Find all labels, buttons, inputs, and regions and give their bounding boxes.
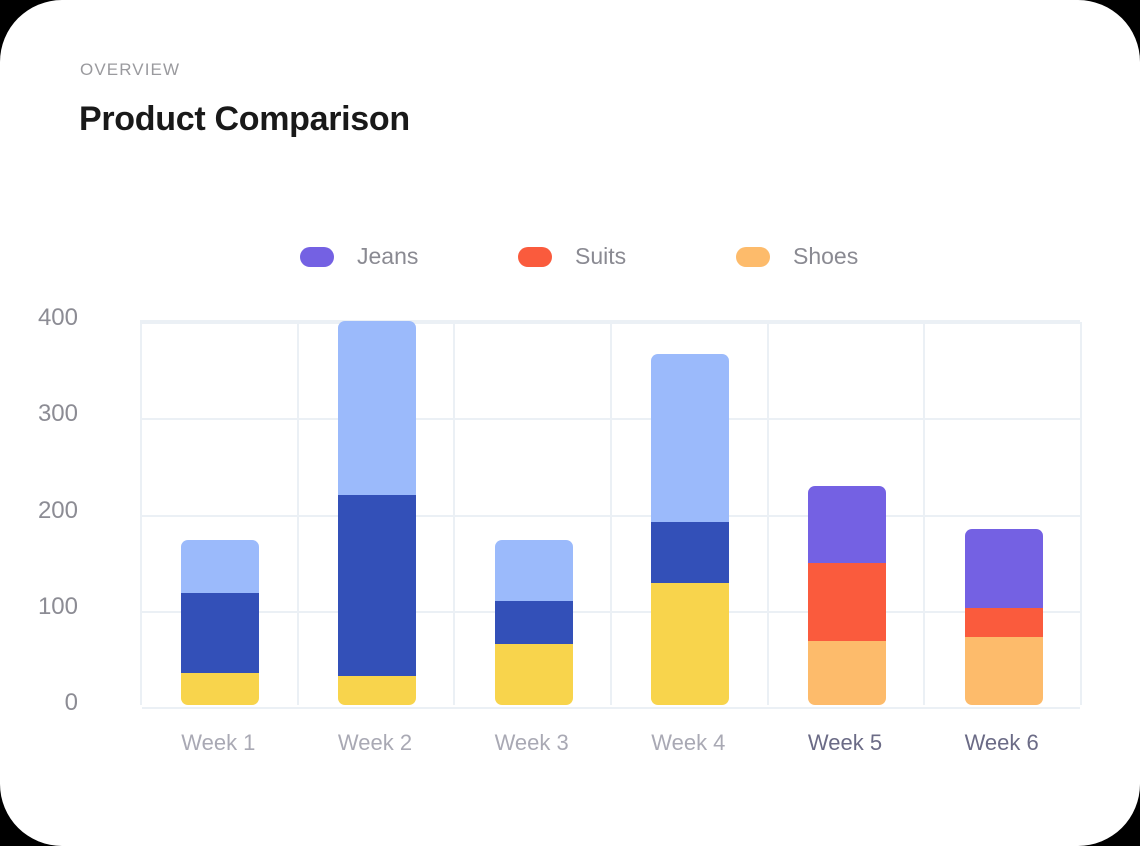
bar-segment-suits[interactable]	[965, 608, 1043, 637]
bar-segment-shoes[interactable]	[181, 673, 259, 705]
bar-segment-suits[interactable]	[495, 601, 573, 644]
bar-segment-jeans[interactable]	[651, 354, 729, 522]
legend-item-label: Shoes	[793, 243, 858, 270]
legend-item-shoes[interactable]: Shoes	[736, 243, 954, 270]
legend-item-label: Suits	[575, 243, 626, 270]
bar-segment-jeans[interactable]	[965, 529, 1043, 608]
legend-swatch-icon	[736, 247, 770, 267]
y-axis-tick-label: 200	[0, 497, 78, 525]
bar-segment-suits[interactable]	[651, 522, 729, 583]
gridline-vertical	[453, 322, 455, 705]
bar-segment-suits[interactable]	[181, 593, 259, 673]
bar-segment-shoes[interactable]	[651, 583, 729, 705]
bar-week-3[interactable]	[495, 540, 573, 705]
bar-week-1[interactable]	[181, 540, 259, 705]
card-eyebrow: OVERVIEW	[80, 60, 180, 80]
y-axis-tick-label: 300	[0, 400, 78, 428]
legend-swatch-icon	[518, 247, 552, 267]
bar-segment-jeans[interactable]	[338, 321, 416, 495]
x-axis-tick-label: Week 6	[892, 730, 1112, 756]
bar-week-2[interactable]	[338, 321, 416, 705]
bar-segment-shoes[interactable]	[338, 676, 416, 705]
bar-week-4[interactable]	[651, 354, 729, 705]
legend-item-label: Jeans	[357, 243, 418, 270]
y-axis-tick-label: 100	[0, 593, 78, 621]
bar-segment-jeans[interactable]	[495, 540, 573, 601]
legend-item-jeans[interactable]: Jeans	[300, 243, 518, 270]
bar-segment-shoes[interactable]	[965, 637, 1043, 705]
page-title: Product Comparison	[79, 100, 410, 139]
bar-segment-shoes[interactable]	[495, 644, 573, 705]
chart-legend: JeansSuitsShoes	[300, 243, 954, 270]
bar-segment-suits[interactable]	[808, 563, 886, 641]
bar-segment-shoes[interactable]	[808, 641, 886, 705]
gridline-horizontal	[142, 707, 1080, 709]
gridline-vertical	[923, 322, 925, 705]
chart-card: OVERVIEW Product Comparison JeansSuitsSh…	[0, 0, 1140, 846]
legend-swatch-icon	[300, 247, 334, 267]
gridline-vertical	[610, 322, 612, 705]
bar-week-5[interactable]	[808, 486, 886, 705]
gridline-vertical	[1080, 322, 1082, 705]
bar-segment-jeans[interactable]	[181, 540, 259, 593]
y-axis-tick-label: 400	[0, 304, 78, 332]
bar-segment-jeans[interactable]	[808, 486, 886, 563]
legend-item-suits[interactable]: Suits	[518, 243, 736, 270]
bar-week-6[interactable]	[965, 529, 1043, 705]
y-axis-tick-label: 0	[0, 689, 78, 717]
plot-area	[140, 320, 1080, 705]
bar-segment-suits[interactable]	[338, 495, 416, 676]
gridline-vertical	[767, 322, 769, 705]
gridline-vertical	[297, 322, 299, 705]
